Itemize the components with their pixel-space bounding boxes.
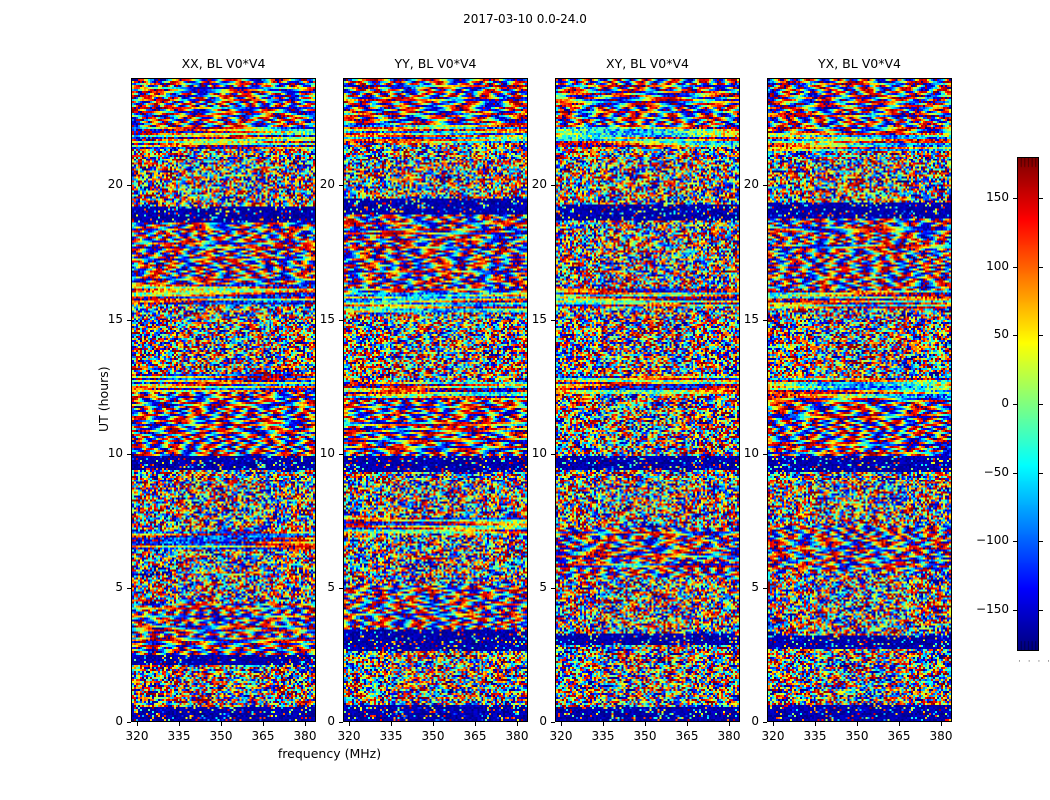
y-tick-label: 20 xyxy=(93,177,123,191)
colorbar-tick-mark xyxy=(1039,404,1043,405)
heatmap-image-xx xyxy=(132,79,315,721)
colorbar-tick-mark xyxy=(1013,335,1017,336)
x-tick-label: 320 xyxy=(117,729,157,743)
heatmap-panel-yy[interactable] xyxy=(343,78,528,722)
x-tick-mark xyxy=(899,722,900,726)
y-tick-mark xyxy=(551,320,555,321)
y-tick-label: 15 xyxy=(305,312,335,326)
colorbar-tick-mark xyxy=(1039,198,1043,199)
x-tick-label: 350 xyxy=(625,729,665,743)
y-tick-mark xyxy=(127,185,131,186)
x-tick-mark xyxy=(603,722,604,726)
colorbar-tick-label: 150 xyxy=(963,190,1009,204)
y-tick-label: 15 xyxy=(517,312,547,326)
x-tick-label: 350 xyxy=(837,729,877,743)
x-tick-label: 350 xyxy=(413,729,453,743)
y-tick-label: 10 xyxy=(729,446,759,460)
y-tick-mark xyxy=(127,722,131,723)
colorbar-tick-mark xyxy=(1013,473,1017,474)
y-tick-label: 10 xyxy=(517,446,547,460)
colorbar-tick-mark xyxy=(1013,267,1017,268)
x-tick-mark xyxy=(773,722,774,726)
y-axis-label: UT (hours) xyxy=(96,366,111,432)
y-tick-mark xyxy=(339,454,343,455)
figure-title: 2017-03-10 0.0-24.0 xyxy=(0,12,1050,26)
colorbar-tick-mark xyxy=(1039,267,1043,268)
x-tick-mark xyxy=(349,722,350,726)
y-tick-label: 20 xyxy=(305,177,335,191)
colorbar-tick-mark xyxy=(1013,610,1017,611)
colorbar-tick-label: 50 xyxy=(963,327,1009,341)
y-tick-mark xyxy=(551,454,555,455)
x-tick-mark xyxy=(687,722,688,726)
x-tick-mark xyxy=(941,722,942,726)
colorbar-tick-label: 100 xyxy=(963,259,1009,273)
colorbar-tick-label: 0 xyxy=(963,396,1009,410)
y-tick-label: 5 xyxy=(729,580,759,594)
x-tick-label: 320 xyxy=(753,729,793,743)
figure-canvas: 2017-03-10 0.0-24.0 XX, BL V0*V432033535… xyxy=(0,0,1050,800)
y-tick-mark xyxy=(127,320,131,321)
y-tick-label: 5 xyxy=(305,580,335,594)
subplot-title-xx: XX, BL V0*V4 xyxy=(131,56,316,71)
y-tick-mark xyxy=(763,588,767,589)
colorbar-tick-label: −100 xyxy=(963,533,1009,547)
x-tick-mark xyxy=(561,722,562,726)
y-tick-label: 15 xyxy=(729,312,759,326)
y-tick-label: 0 xyxy=(729,714,759,728)
colorbar-tick-label: −150 xyxy=(963,602,1009,616)
y-tick-label: 0 xyxy=(517,714,547,728)
x-tick-label: 365 xyxy=(879,729,919,743)
colorbar-tick-mark xyxy=(1039,473,1043,474)
x-tick-mark xyxy=(475,722,476,726)
x-tick-label: 380 xyxy=(709,729,749,743)
colorbar-tick-mark xyxy=(1013,541,1017,542)
x-tick-label: 380 xyxy=(285,729,325,743)
x-tick-label: 335 xyxy=(795,729,835,743)
y-tick-label: 5 xyxy=(517,580,547,594)
y-tick-mark xyxy=(551,588,555,589)
subplot-title-yy: YY, BL V0*V4 xyxy=(343,56,528,71)
y-tick-label: 20 xyxy=(517,177,547,191)
y-tick-mark xyxy=(763,454,767,455)
heatmap-panel-xy[interactable] xyxy=(555,78,740,722)
colorbar-tick-label: −50 xyxy=(963,465,1009,479)
colorbar-tick-mark xyxy=(1039,541,1043,542)
y-tick-mark xyxy=(763,320,767,321)
x-tick-label: 365 xyxy=(455,729,495,743)
colorbar[interactable] xyxy=(1017,157,1039,651)
y-tick-mark xyxy=(339,722,343,723)
x-tick-mark xyxy=(137,722,138,726)
y-tick-label: 10 xyxy=(93,446,123,460)
heatmap-panel-yx[interactable] xyxy=(767,78,952,722)
x-axis-label: frequency (MHz) xyxy=(131,746,528,761)
colorbar-tick-mark xyxy=(1039,610,1043,611)
colorbar-tick-mark xyxy=(1013,198,1017,199)
y-tick-mark xyxy=(763,185,767,186)
heatmap-image-xy xyxy=(556,79,739,721)
y-tick-label: 15 xyxy=(93,312,123,326)
x-tick-mark xyxy=(433,722,434,726)
heatmap-image-yy xyxy=(344,79,527,721)
heatmap-panel-xx[interactable] xyxy=(131,78,316,722)
x-tick-mark xyxy=(815,722,816,726)
colorbar-overflow-marker: · · · · · xyxy=(1018,657,1050,667)
y-tick-mark xyxy=(127,588,131,589)
x-tick-label: 320 xyxy=(329,729,369,743)
subplot-title-yx: YX, BL V0*V4 xyxy=(767,56,952,71)
x-tick-mark xyxy=(179,722,180,726)
x-tick-label: 365 xyxy=(667,729,707,743)
y-tick-label: 20 xyxy=(729,177,759,191)
heatmap-image-yx xyxy=(768,79,951,721)
y-tick-mark xyxy=(763,722,767,723)
colorbar-tick-mark xyxy=(1039,335,1043,336)
x-tick-mark xyxy=(645,722,646,726)
colorbar-tick-mark xyxy=(1013,404,1017,405)
y-tick-label: 5 xyxy=(93,580,123,594)
subplot-title-xy: XY, BL V0*V4 xyxy=(555,56,740,71)
x-tick-mark xyxy=(263,722,264,726)
x-tick-label: 380 xyxy=(921,729,961,743)
y-tick-label: 0 xyxy=(305,714,335,728)
x-tick-label: 350 xyxy=(201,729,241,743)
y-tick-label: 10 xyxy=(305,446,335,460)
x-tick-label: 335 xyxy=(159,729,199,743)
y-tick-label: 0 xyxy=(93,714,123,728)
y-tick-mark xyxy=(127,454,131,455)
x-tick-mark xyxy=(391,722,392,726)
x-tick-label: 335 xyxy=(371,729,411,743)
y-tick-mark xyxy=(551,185,555,186)
x-tick-label: 380 xyxy=(497,729,537,743)
x-tick-label: 365 xyxy=(243,729,283,743)
x-tick-label: 335 xyxy=(583,729,623,743)
x-tick-mark xyxy=(857,722,858,726)
x-tick-mark xyxy=(221,722,222,726)
y-tick-mark xyxy=(339,320,343,321)
y-tick-mark xyxy=(551,722,555,723)
y-tick-mark xyxy=(339,588,343,589)
x-tick-label: 320 xyxy=(541,729,581,743)
y-tick-mark xyxy=(339,185,343,186)
